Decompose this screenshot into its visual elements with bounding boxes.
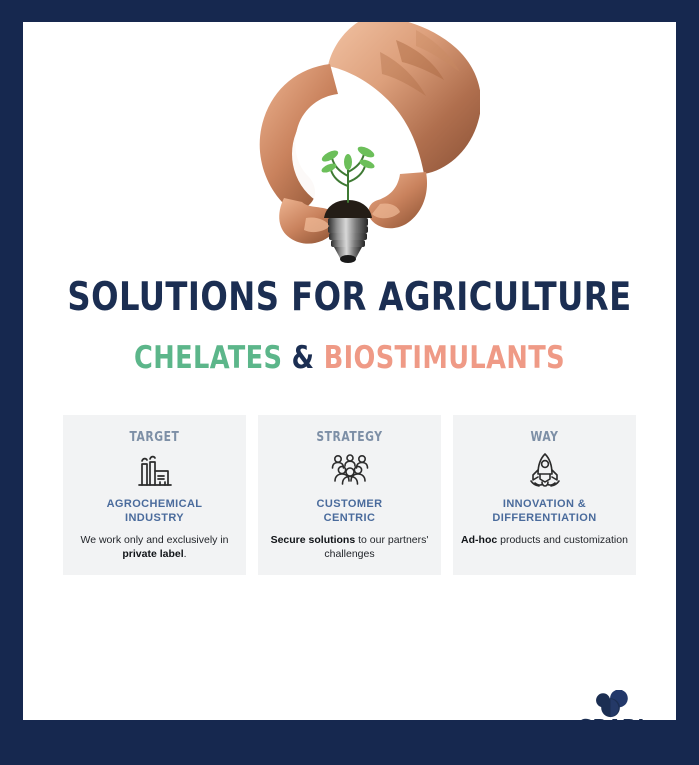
card-kicker: WAY xyxy=(468,430,622,445)
card-body-bold: private label xyxy=(122,548,183,560)
factory-icon xyxy=(71,450,238,490)
card-body-bold: Secure solutions xyxy=(271,534,356,546)
subtitle-chelates: CHELATES xyxy=(134,340,282,376)
card-strategy: STRATEGY xyxy=(258,415,441,575)
page-title: SOLUTIONS FOR AGRICULTURE xyxy=(49,278,650,317)
card-body-bold: Ad-hoc xyxy=(461,534,497,546)
card-title: INNOVATION & DIFFERENTIATION xyxy=(461,497,628,525)
page-subtitle: CHELATES & BIOSTIMULANTS xyxy=(49,343,650,374)
three-overlapping-spheres-icon xyxy=(590,690,633,718)
logo-wordmark: GRAB! xyxy=(575,718,647,720)
card-title: AGROCHEMICAL INDUSTRY xyxy=(71,497,238,525)
card-title-line1: AGROCHEMICAL xyxy=(107,498,203,510)
card-title-line1: INNOVATION & xyxy=(503,498,586,510)
card-body: We work only and exclusively in private … xyxy=(71,533,238,561)
hand-holding-lightbulb-with-seedling-icon xyxy=(220,22,480,268)
subtitle-ampersand: & xyxy=(292,340,315,376)
card-body-post: . xyxy=(184,548,187,560)
feature-cards: TARGET xyxy=(63,415,636,575)
rocket-icon xyxy=(461,450,628,490)
card-kicker: TARGET xyxy=(78,430,232,445)
white-panel: SOLUTIONS FOR AGRICULTURE CHELATES & BIO… xyxy=(23,22,676,720)
card-way: WAY xyxy=(453,415,636,575)
card-body: Ad-hoc products and customization xyxy=(461,533,628,547)
card-title-line2: DIFFERENTIATION xyxy=(492,512,596,524)
card-title-line2: CENTRIC xyxy=(324,512,376,524)
hero-image xyxy=(23,22,676,268)
card-target: TARGET xyxy=(63,415,246,575)
card-body-pre: We work only and exclusively in xyxy=(80,534,228,546)
card-title-line1: CUSTOMER xyxy=(317,498,383,510)
card-title-line2: INDUSTRY xyxy=(125,512,184,524)
card-body: Secure solutions to our partners' challe… xyxy=(266,533,433,561)
card-body-post: products and customization xyxy=(497,534,628,546)
brand-logo: GRAB! Chemical xyxy=(568,690,654,720)
poster: SOLUTIONS FOR AGRICULTURE CHELATES & BIO… xyxy=(0,0,699,765)
card-kicker: STRATEGY xyxy=(273,430,427,445)
subtitle-biostimulants: BIOSTIMULANTS xyxy=(324,340,565,376)
card-title: CUSTOMER CENTRIC xyxy=(266,497,433,525)
people-group-icon xyxy=(266,450,433,490)
